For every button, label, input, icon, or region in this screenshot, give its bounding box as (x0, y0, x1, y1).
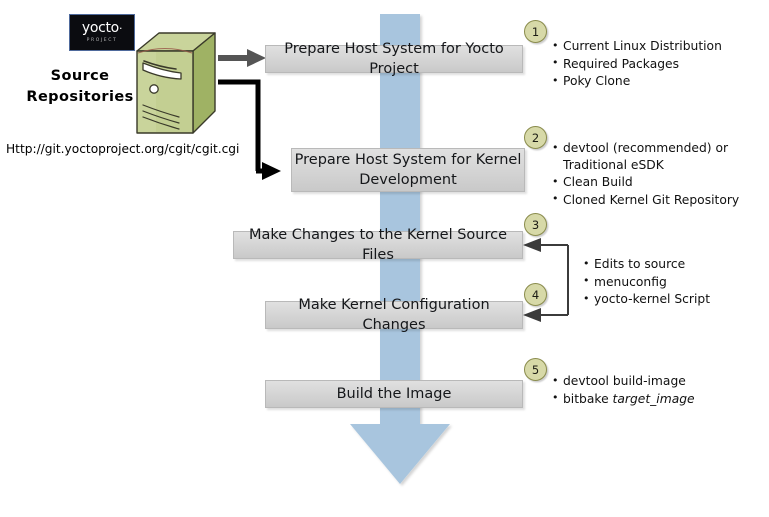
list-item: Current Linux Distribution (552, 38, 757, 55)
list-item: Edits to source (583, 256, 763, 273)
connector-server-to-step1 (218, 49, 266, 67)
list-item: Poky Clone (552, 73, 757, 90)
logo-dot: · (119, 22, 122, 35)
bullet-text: Edits to source (594, 257, 685, 271)
bullet-text: Required Packages (563, 57, 679, 71)
process-box-step4-label: Make Kernel Configuration Changes (266, 295, 522, 335)
source-repositories-label-line2: Repositories (20, 87, 140, 108)
bullet-text: devtool (recommended) or (563, 141, 728, 155)
bullet-text: Current Linux Distribution (563, 39, 722, 53)
connector-feedback-loop (523, 238, 568, 322)
list-item: bitbake target_image (552, 391, 757, 408)
bullet-text: devtool build-image (563, 374, 686, 388)
connector-server-to-step2 (218, 82, 281, 180)
process-box-step5[interactable]: Build the Image (265, 380, 523, 408)
process-box-step3-label: Make Changes to the Kernel Source Files (234, 225, 522, 265)
bullet-text-italic: target_image (613, 392, 695, 406)
step-badge-4-number: 4 (532, 288, 539, 302)
list-item: Clean Build (552, 174, 762, 191)
step-badge-1-number: 1 (532, 25, 539, 39)
list-item: menuconfig (583, 274, 763, 291)
list-item: Required Packages (552, 56, 757, 73)
bullet-text-continuation: Traditional eSDK (563, 157, 762, 174)
process-box-step1-label: Prepare Host System for Yocto Project (266, 39, 522, 79)
logo-wordmark-text: yocto (82, 20, 119, 36)
bullet-text: Poky Clone (563, 74, 630, 88)
list-item: devtool (recommended) or Traditional eSD… (552, 140, 762, 173)
step-badge-1: 1 (524, 20, 547, 43)
step-badge-3-number: 3 (532, 218, 539, 232)
source-repositories-label-line1: Source (20, 66, 140, 87)
bullet-text: menuconfig (594, 275, 667, 289)
process-box-step4[interactable]: Make Kernel Configuration Changes (265, 301, 523, 329)
server-tower-icon (133, 29, 219, 141)
process-box-step3[interactable]: Make Changes to the Kernel Source Files (233, 231, 523, 259)
bullet-text: Cloned Kernel Git Repository (563, 193, 739, 207)
step-badge-2-number: 2 (532, 131, 539, 145)
list-item: Cloned Kernel Git Repository (552, 192, 762, 209)
bullet-list-step2: devtool (recommended) or Traditional eSD… (552, 140, 762, 209)
list-item: devtool build-image (552, 373, 757, 390)
bullet-list-step5: devtool build-image bitbake target_image (552, 373, 757, 408)
process-box-step2[interactable]: Prepare Host System for Kernel Developme… (291, 148, 525, 192)
step-badge-5: 5 (524, 358, 547, 381)
yocto-project-logo: yocto· PROJECT (69, 14, 135, 51)
logo-wordmark: yocto· (82, 21, 122, 36)
step-badge-4: 4 (524, 283, 547, 306)
process-box-step2-label: Prepare Host System for Kernel Developme… (295, 150, 522, 190)
process-box-step2-line2: Development (359, 172, 457, 188)
step-badge-2: 2 (524, 126, 547, 149)
process-box-step1[interactable]: Prepare Host System for Yocto Project (265, 45, 523, 73)
bullet-text: yocto-kernel Script (594, 292, 710, 306)
step-badge-3: 3 (524, 213, 547, 236)
bullet-list-steps34: Edits to source menuconfig yocto-kernel … (583, 256, 763, 309)
step-badge-5-number: 5 (532, 363, 539, 377)
bullet-list-step1: Current Linux Distribution Required Pack… (552, 38, 757, 91)
process-box-step2-line1: Prepare Host System for Kernel (295, 152, 522, 168)
bullet-text: Clean Build (563, 175, 633, 189)
process-box-step5-label: Build the Image (337, 384, 452, 404)
list-item: yocto-kernel Script (583, 291, 763, 308)
logo-subtext: PROJECT (87, 37, 118, 44)
source-repositories-url: Http://git.yoctoproject.org/cgit/cgit.cg… (6, 142, 239, 156)
bullet-text: bitbake (563, 392, 613, 406)
source-repositories-label: Source Repositories (20, 66, 140, 108)
diagram-canvas: yocto· PROJECT Source Repositories Http:… (0, 0, 769, 517)
